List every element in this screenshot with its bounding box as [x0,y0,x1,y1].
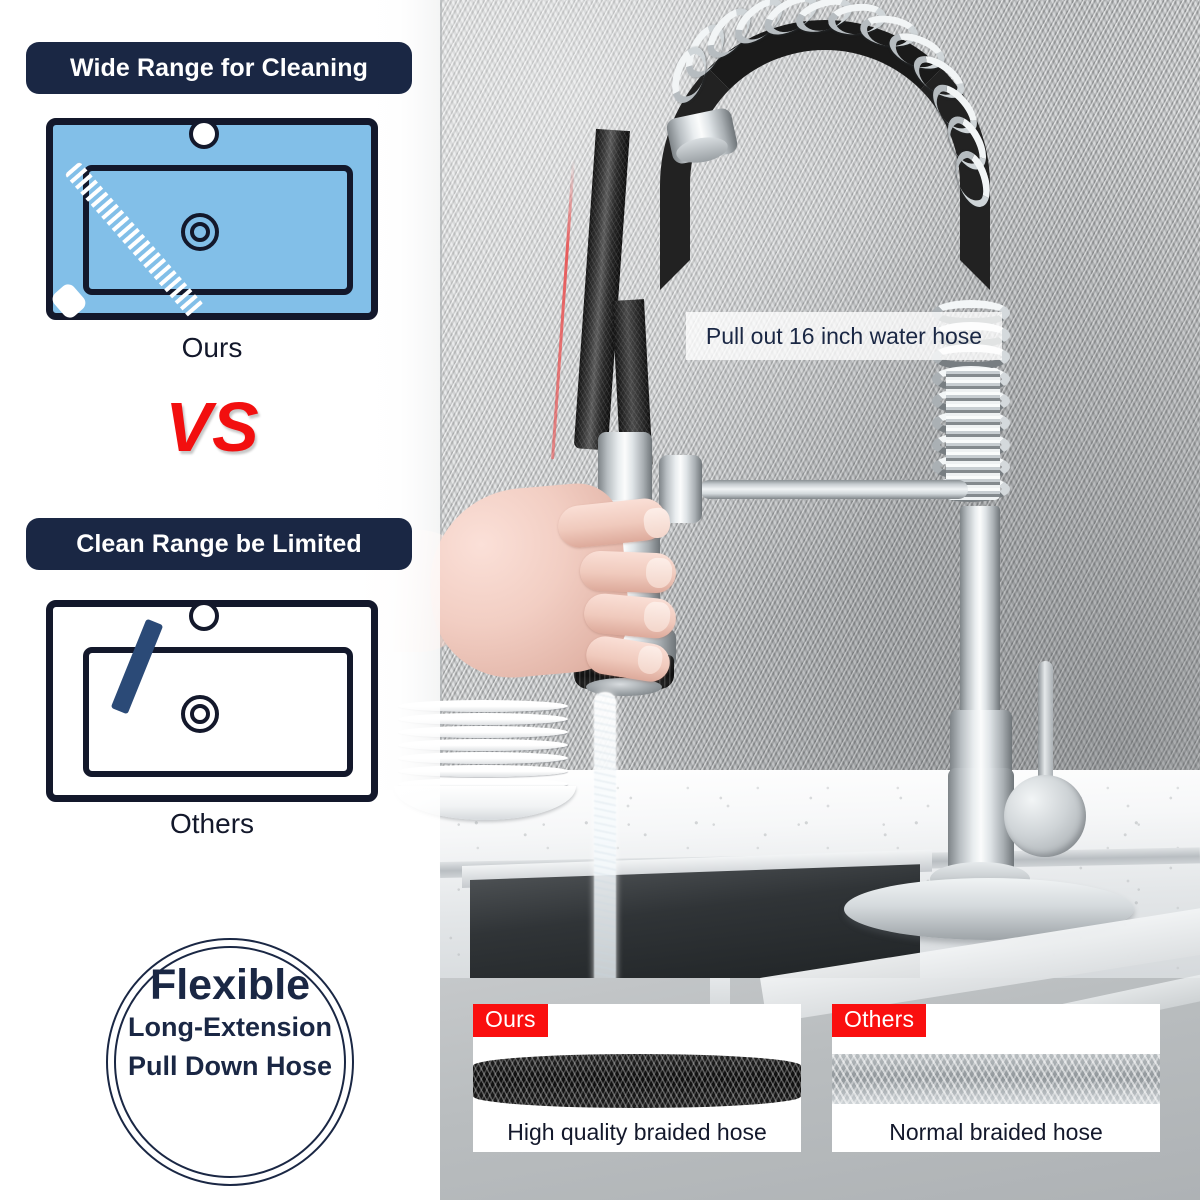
red-extension-guide-line [551,160,575,459]
faucet-column [960,506,1000,721]
tap-hole-ours [189,119,219,149]
label-ours: Ours [46,332,378,364]
drain-inner-others [190,704,210,724]
hose-card-ours: Ours High quality braided hose [473,1004,801,1152]
sink-diagram-ours [46,118,378,320]
faucet-spout-arm [700,480,968,499]
label-others: Others [46,808,378,840]
vs-divider: VS [46,392,378,462]
tag-others: Others [832,1004,926,1037]
flexible-line-1: Flexible [106,962,354,1008]
hose-length-callout-text: Pull out 16 inch water hose [706,323,982,350]
badge-clean-range-limited: Clean Range be Limited [26,518,412,570]
hose-length-callout: Pull out 16 inch water hose [686,312,1002,360]
hose-image-ours [473,1054,801,1108]
caption-ours: High quality braided hose [473,1119,801,1146]
flexible-line-2: Long-Extension [106,1008,354,1046]
faucet-lever-handle[interactable] [1038,661,1053,785]
tap-hole-others [189,601,219,631]
drain-inner-ours [190,222,210,242]
tag-ours: Ours [473,1004,548,1037]
hose-image-others [832,1054,1160,1104]
flexible-badge-text: Flexible Long-Extension Pull Down Hose [106,962,354,1085]
faucet-handle-knob[interactable] [1004,775,1086,857]
hand-gripping-sprayer [430,466,680,706]
water-stream-texture [594,692,616,988]
caption-others: Normal braided hose [832,1119,1160,1146]
flexible-line-3: Pull Down Hose [106,1047,354,1085]
infographic-canvas: Pull out 16 inch water hose Wide Range f… [0,0,1200,1200]
water-stream [594,692,616,988]
hose-card-others: Others Normal braided hose [832,1004,1160,1152]
badge-wide-range: Wide Range for Cleaning [26,42,412,94]
sink-diagram-others [46,600,378,802]
